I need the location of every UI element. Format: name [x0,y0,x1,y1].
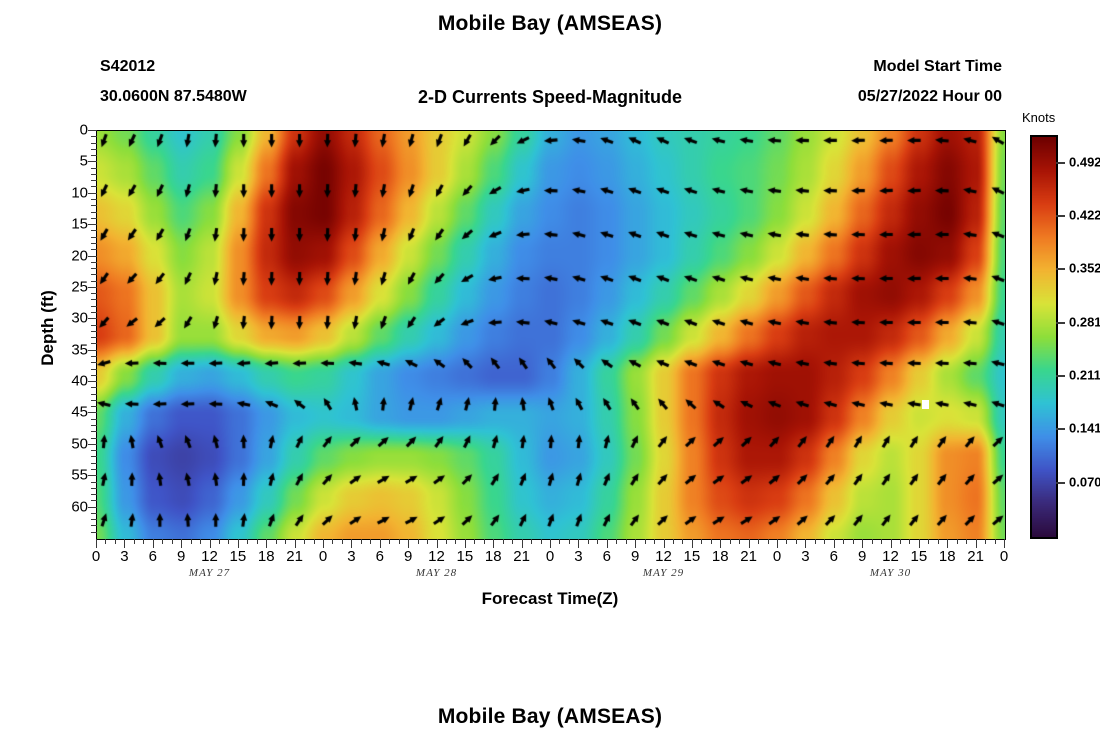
x-axis-minor-tick [228,539,229,544]
y-axis-minor-tick [91,463,97,464]
x-axis-tick-label: 3 [574,548,582,565]
colorbar-tick-label: 0.211 [1069,368,1100,383]
x-axis-tick-label: 18 [258,548,275,565]
x-axis-minor-tick [399,539,400,544]
x-axis-minor-tick [446,539,447,544]
y-axis-tick-label: 15 [71,216,88,233]
colorbar-tick-label: 0.352 [1069,261,1100,276]
y-axis-minor-tick [91,180,97,181]
x-axis-minor-tick [853,539,854,544]
x-axis-tick-label: 6 [830,548,838,565]
x-axis-minor-tick [172,539,173,544]
y-axis-minor-tick [91,262,97,263]
colorbar-tick-mark [1056,268,1065,270]
y-axis-tick-label: 35 [71,341,88,358]
x-axis-major-tick [465,539,466,548]
x-axis-minor-tick [361,539,362,544]
x-axis-major-tick [181,539,182,548]
y-axis-title: Depth (ft) [38,268,58,388]
x-axis-minor-tick [843,539,844,544]
x-axis-day-label: MAY 30 [870,567,911,579]
y-axis-major-tick [88,193,97,194]
x-axis-minor-tick [872,539,873,544]
x-axis-minor-tick [503,539,504,544]
y-axis-minor-tick [91,268,97,269]
x-axis-minor-tick [928,539,929,544]
colorbar-tick-mark [1056,322,1065,324]
model-start-time-value: 05/27/2022 Hour 00 [858,88,1002,106]
y-axis-minor-tick [91,325,97,326]
x-axis-minor-tick [105,539,106,544]
x-axis-minor-tick [654,539,655,544]
x-axis-minor-tick [257,539,258,544]
selected-point-marker [922,400,929,409]
x-axis-major-tick [578,539,579,548]
x-axis-tick-label: 21 [967,548,984,565]
x-axis-major-tick [210,539,211,548]
x-axis-major-tick [96,539,97,548]
y-axis-tick-label: 20 [71,247,88,264]
x-axis-tick-label: 9 [404,548,412,565]
x-axis-major-tick [777,539,778,548]
x-axis-major-tick [607,539,608,548]
x-axis-major-tick [976,539,977,548]
y-axis-minor-tick [91,174,97,175]
y-axis-minor-tick [91,337,97,338]
colorbar-tick-label: 0.141 [1069,421,1100,436]
y-axis-minor-tick [91,425,97,426]
x-axis-minor-tick [200,539,201,544]
y-axis-major-tick [88,130,97,131]
y-axis-minor-tick [91,500,97,501]
x-axis-major-tick [891,539,892,548]
x-axis-major-tick [295,539,296,548]
y-axis-minor-tick [91,249,97,250]
x-axis-tick-label: 3 [801,548,809,565]
y-axis-minor-tick [91,356,97,357]
x-axis-minor-tick [597,539,598,544]
x-axis-tick-label: 12 [655,548,672,565]
x-axis-minor-tick [474,539,475,544]
y-axis-minor-tick [91,237,97,238]
y-axis-minor-tick [91,212,97,213]
x-axis-day-label: MAY 29 [643,567,684,579]
x-axis-major-tick [522,539,523,548]
y-axis-minor-tick [91,375,97,376]
y-axis-tick-label: 60 [71,498,88,515]
y-axis-minor-tick [91,513,97,514]
x-axis-minor-tick [796,539,797,544]
x-axis-minor-tick [786,539,787,544]
x-axis-minor-tick [900,539,901,544]
y-axis-minor-tick [91,186,97,187]
x-axis-major-tick [408,539,409,548]
y-axis-minor-tick [91,168,97,169]
y-axis-tick-label: 0 [80,122,88,139]
y-axis-minor-tick [91,230,97,231]
x-axis-minor-tick [815,539,816,544]
x-axis-minor-tick [758,539,759,544]
x-axis-minor-tick [455,539,456,544]
x-axis-minor-tick [143,539,144,544]
colorbar-tick-mark [1056,428,1065,430]
x-axis-tick-label: 6 [376,548,384,565]
y-axis-minor-tick [91,519,97,520]
y-axis-tick-label: 5 [80,153,88,170]
x-axis-major-tick [1004,539,1005,548]
y-axis-tick-label: 40 [71,373,88,390]
y-axis-minor-tick [91,155,97,156]
y-axis-minor-tick [91,419,97,420]
x-axis-minor-tick [531,539,532,544]
x-axis-tick-label: 3 [120,548,128,565]
x-axis-major-tick [919,539,920,548]
y-axis-minor-tick [91,406,97,407]
y-axis-major-tick [88,507,97,508]
y-axis-major-tick [88,350,97,351]
x-axis-minor-tick [768,539,769,544]
x-axis-minor-tick [616,539,617,544]
x-axis-minor-tick [247,539,248,544]
x-axis-major-tick [437,539,438,548]
x-axis-tick-label: 9 [631,548,639,565]
x-axis-major-tick [493,539,494,548]
station-id: S42012 [100,58,155,76]
x-axis-tick-label: 12 [428,548,445,565]
x-axis-major-tick [635,539,636,548]
x-axis-minor-tick [342,539,343,544]
x-axis-day-labels: MAY 27MAY 28MAY 29MAY 30 [0,567,1100,585]
x-axis-major-tick [550,539,551,548]
x-axis-tick-label: 6 [603,548,611,565]
y-axis-minor-tick [91,243,97,244]
x-axis-minor-tick [370,539,371,544]
x-axis-minor-tick [645,539,646,544]
colorbar-tick-mark [1056,482,1065,484]
x-axis-minor-tick [730,539,731,544]
y-axis-minor-tick [91,394,97,395]
x-axis-minor-tick [332,539,333,544]
y-axis-minor-tick [91,494,97,495]
x-axis-minor-tick [881,539,882,544]
x-axis-minor-tick [985,539,986,544]
x-axis-minor-tick [162,539,163,544]
x-axis-tick-label: 21 [740,548,757,565]
y-axis-minor-tick [91,532,97,533]
x-axis-major-tick [380,539,381,548]
x-axis-major-tick [664,539,665,548]
x-axis-minor-tick [512,539,513,544]
x-axis-minor-tick [191,539,192,544]
colorbar-tick-mark [1056,162,1065,164]
heatmap-plot-area [96,130,1006,540]
y-axis-minor-tick [91,362,97,363]
x-axis-tick-label: 0 [92,548,100,565]
y-axis-minor-tick [91,450,97,451]
colorbar-tick-label: 0.492 [1069,154,1100,169]
y-axis-minor-tick [91,136,97,137]
colorbar-tick-label: 0.281 [1069,314,1100,329]
x-axis-tick-label: 0 [319,548,327,565]
y-axis-major-tick [88,318,97,319]
x-axis-tick-marks [96,539,1005,548]
x-axis-tick-label: 9 [858,548,866,565]
x-axis-minor-tick [626,539,627,544]
y-axis-tick-label: 55 [71,467,88,484]
y-axis-minor-tick [91,274,97,275]
x-axis-minor-tick [219,539,220,544]
y-axis-minor-tick [91,143,97,144]
x-axis-minor-tick [427,539,428,544]
x-axis-minor-tick [957,539,958,544]
y-axis-major-tick [88,224,97,225]
y-axis-major-tick [88,256,97,257]
x-axis-tick-label: 12 [882,548,899,565]
y-axis-minor-tick [91,438,97,439]
y-axis-minor-tick [91,199,97,200]
x-axis-tick-label: 9 [177,548,185,565]
y-axis-minor-tick [91,205,97,206]
colorbar-tick-label: 0.070 [1069,474,1100,489]
y-axis-minor-tick [91,343,97,344]
x-axis-major-tick [805,539,806,548]
colorbar-tick-label: 0.422 [1069,208,1100,223]
y-axis-minor-tick [91,431,97,432]
y-axis-minor-tick [91,369,97,370]
x-axis-tick-label: 15 [230,548,247,565]
x-axis-minor-tick [389,539,390,544]
y-axis-major-tick [88,161,97,162]
y-axis-minor-tick [91,456,97,457]
colorbar-ticks: 0.0700.1410.2110.2810.3520.4220.492 [1056,135,1100,535]
colorbar [1030,135,1058,539]
x-axis-tick-label: 21 [286,548,303,565]
current-direction-arrows [97,131,1005,539]
x-axis-tick-label: 3 [347,548,355,565]
x-axis-minor-tick [276,539,277,544]
x-axis-tick-label: 18 [712,548,729,565]
x-axis-major-tick [351,539,352,548]
y-axis-minor-tick [91,331,97,332]
x-axis-minor-tick [739,539,740,544]
y-axis-minor-tick [91,293,97,294]
y-axis-minor-tick [91,387,97,388]
y-axis-minor-tick [91,281,97,282]
x-axis-minor-tick [484,539,485,544]
x-axis-minor-tick [673,539,674,544]
x-axis-tick-label: 18 [939,548,956,565]
y-axis-minor-tick [91,469,97,470]
colorbar-unit-label: Knots [1022,110,1055,125]
y-axis-minor-tick [91,218,97,219]
y-axis-minor-tick [91,299,97,300]
x-axis-minor-tick [966,539,967,544]
x-axis-tick-label: 0 [1000,548,1008,565]
y-axis-minor-tick [91,149,97,150]
x-axis-minor-tick [115,539,116,544]
x-axis-major-tick [749,539,750,548]
x-axis-day-label: MAY 28 [416,567,457,579]
y-axis-major-tick [88,412,97,413]
y-axis-tick-marks [88,130,97,538]
x-axis-title: Forecast Time(Z) [0,589,1100,609]
x-axis-tick-label: 15 [684,548,701,565]
colorbar-tick-mark [1056,375,1065,377]
y-axis-major-tick [88,444,97,445]
x-axis-major-tick [124,539,125,548]
x-axis-minor-tick [588,539,589,544]
y-axis-minor-tick [91,482,97,483]
x-axis-minor-tick [701,539,702,544]
x-axis-tick-label: 15 [911,548,928,565]
x-axis-minor-tick [711,539,712,544]
page-title: Mobile Bay (AMSEAS) [0,12,1100,36]
x-axis-major-tick [238,539,239,548]
y-axis-major-tick [88,287,97,288]
y-axis-minor-tick [91,488,97,489]
y-axis-tick-label: 50 [71,435,88,452]
x-axis-major-tick [692,539,693,548]
x-axis-minor-tick [134,539,135,544]
x-axis-day-label: MAY 27 [189,567,230,579]
colorbar-tick-mark [1056,215,1065,217]
x-axis-major-tick [153,539,154,548]
x-axis-tick-label: 15 [457,548,474,565]
y-axis-minor-tick [91,312,97,313]
x-axis-tick-label: 21 [513,548,530,565]
x-axis-minor-tick [285,539,286,544]
x-axis-major-tick [720,539,721,548]
x-axis-major-tick [266,539,267,548]
x-axis-tick-label: 6 [149,548,157,565]
model-start-time-label: Model Start Time [873,58,1002,76]
x-axis-minor-tick [314,539,315,544]
x-axis-tick-label: 18 [485,548,502,565]
x-axis-major-tick [947,539,948,548]
y-axis-tick-label: 10 [71,184,88,201]
x-axis-tick-label: 0 [773,548,781,565]
x-axis-minor-tick [824,539,825,544]
x-axis-major-tick [834,539,835,548]
x-axis-minor-tick [909,539,910,544]
y-axis-tick-label: 30 [71,310,88,327]
x-axis-minor-tick [304,539,305,544]
y-axis-major-tick [88,381,97,382]
x-axis-tick-label: 0 [546,548,554,565]
y-axis-major-tick [88,475,97,476]
x-axis-minor-tick [682,539,683,544]
x-axis-minor-tick [541,539,542,544]
footer-title: Mobile Bay (AMSEAS) [0,705,1100,729]
y-axis-minor-tick [91,306,97,307]
x-axis-major-tick [323,539,324,548]
colorbar-gradient [1032,137,1056,537]
x-axis-tick-label: 12 [201,548,218,565]
y-axis-tick-label: 25 [71,278,88,295]
x-axis-minor-tick [995,539,996,544]
x-axis-minor-tick [938,539,939,544]
y-axis-minor-tick [91,400,97,401]
x-axis-minor-tick [418,539,419,544]
x-axis-minor-tick [559,539,560,544]
y-axis-tick-label: 45 [71,404,88,421]
x-axis-minor-tick [569,539,570,544]
y-axis-minor-tick [91,525,97,526]
x-axis-major-tick [862,539,863,548]
